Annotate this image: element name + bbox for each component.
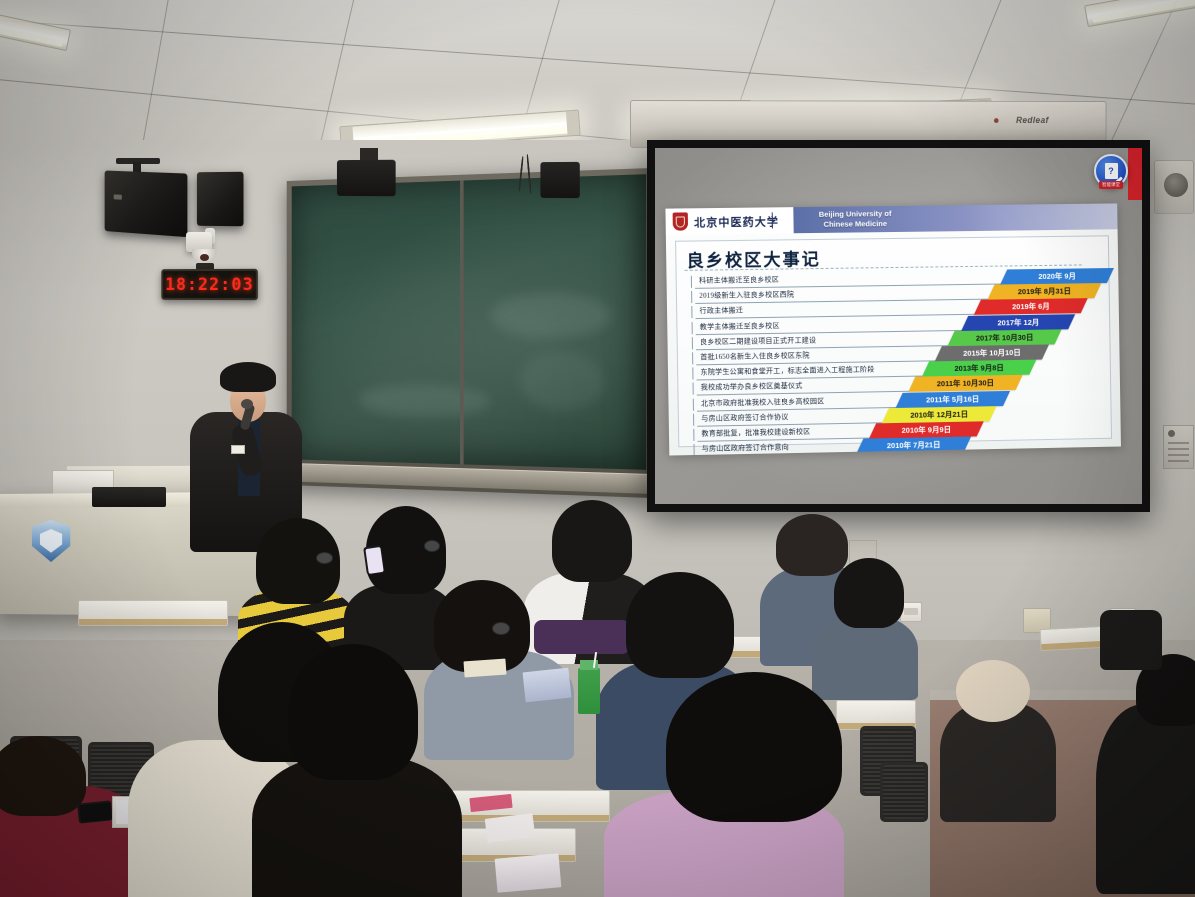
notebook — [463, 659, 506, 678]
green-chalkboard — [287, 168, 652, 498]
timeline-date-text: 2015年 10月10日 — [963, 345, 1021, 361]
student-body — [812, 616, 918, 700]
timeline-date-text: 2011年 10月30日 — [937, 376, 994, 392]
timeline-date-text: 2013年 9月8日 — [954, 360, 1004, 376]
timeline-date-bar: 2020年 9月 — [1000, 268, 1114, 285]
timeline-tick-icon — [692, 352, 693, 364]
timeline-tick-icon — [693, 429, 694, 441]
wall-speaker — [1154, 160, 1194, 214]
digital-wall-clock: 18:22:03 — [161, 269, 258, 300]
timeline-date-bar: 2017年 12月 — [961, 314, 1075, 331]
smartphone[interactable] — [363, 545, 385, 575]
timeline-event-label: 与房山区政府签订合作意向 — [702, 440, 789, 455]
housing-indicator-icon — [994, 118, 999, 123]
speaker-grill-icon — [1164, 173, 1188, 197]
student-hair — [956, 660, 1030, 722]
university-name-cn: 北京中医药大学 — [694, 213, 779, 230]
timeline-tick-icon — [691, 306, 692, 318]
chalkboard-surface — [292, 174, 646, 470]
timeline-date-bar: 2019年 6月 — [974, 299, 1088, 316]
lanyard-id-badge — [231, 445, 245, 454]
timeline-chart: 科研主体搬迁至良乡校区2020年 9月2019级新生入驻良乡校区西院2019年 … — [685, 268, 1105, 442]
notebook — [523, 668, 572, 703]
notebook — [495, 853, 562, 892]
student-hair — [0, 736, 86, 816]
timeline-date-bar: 2011年 10月30日 — [909, 375, 1023, 392]
timeline-date-text: 2020年 9月 — [1038, 269, 1076, 284]
ceiling-speaker — [197, 172, 244, 227]
slide-body: 良乡校区大事记 科研主体搬迁至良乡校区2020年 9月2019级新生入驻良乡校区… — [675, 235, 1112, 447]
timeline-event-label: 行政主体搬迁 — [699, 304, 743, 320]
av-box — [540, 162, 579, 198]
projector — [337, 160, 396, 196]
student-hair — [776, 514, 848, 576]
backpack — [1100, 610, 1162, 670]
timeline-date-text: 2019年 8月31日 — [1017, 284, 1070, 300]
student-body — [1096, 704, 1195, 894]
timeline-tick-icon — [692, 368, 693, 380]
timeline-event-label: 教学主体搬迁至良乡校区 — [700, 318, 780, 334]
student-hair — [626, 572, 734, 678]
milk-carton — [578, 668, 600, 714]
screen-brand-label: Redleaf — [1016, 115, 1049, 125]
eyeglasses — [424, 540, 440, 552]
timeline-tick-icon — [693, 398, 694, 410]
timeline-event-label: 良乡校区二期建设项目正式开工建设 — [700, 333, 816, 350]
screen-red-tab — [1128, 148, 1142, 200]
timeline-date-text: 2017年 12月 — [997, 314, 1039, 330]
timeline-tick-icon — [691, 276, 692, 288]
document-pencil-icon: ? — [1105, 163, 1118, 179]
timeline-event-label: 我校成功举办良乡校区奠基仪式 — [701, 379, 803, 396]
timeline-event-label: 科研主体搬迁至良乡校区 — [699, 273, 779, 289]
chair[interactable] — [880, 762, 928, 822]
projection-surface: ? 智能课堂 北京中医药大学 Beijing University of Chi… — [655, 148, 1142, 504]
timeline-date-bar: 2017年 10月30日 — [948, 329, 1062, 346]
sign-logo-icon — [1168, 430, 1175, 437]
timeline-tick-icon — [693, 414, 694, 426]
watermark-label: 智能课堂 — [1099, 181, 1123, 189]
timeline-tick-icon — [691, 291, 692, 303]
university-name-en: Beijing University of Chinese Medicine — [785, 209, 926, 231]
wall-notice-sign — [1163, 425, 1194, 469]
timeline-tick-icon — [692, 337, 693, 349]
timeline-date-text: 2010年 9月9日 — [902, 422, 952, 438]
eyeglasses — [492, 622, 510, 635]
student-lap-bag — [534, 620, 630, 654]
student-hair — [666, 672, 842, 822]
clock-time-display: 18:22:03 — [165, 274, 254, 294]
student-hair — [834, 558, 904, 628]
timeline-date-text: 2017年 10月30日 — [976, 330, 1034, 346]
slide-header: 北京中医药大学 Beijing University of Chinese Me… — [665, 203, 1117, 234]
timeline-date-text: 2019年 6月 — [1012, 299, 1050, 314]
student-hair — [288, 644, 418, 780]
timeline-tick-icon — [692, 322, 693, 334]
classroom-scene: 18:22:03 Redleaf ? 智能课堂 北京中医药大学 — [0, 0, 1195, 897]
projection-screen: ? 智能课堂 北京中医药大学 Beijing University of Chi… — [647, 140, 1150, 512]
timeline-event-label: 首批1650名新生入住良乡校区东院 — [700, 348, 810, 365]
timeline-date-text: 2011年 5月16日 — [926, 391, 979, 407]
university-shield-emblem — [32, 520, 70, 562]
timeline-event-label: 2019级新生入驻良乡校区西院 — [699, 288, 794, 304]
eyeglasses — [316, 552, 333, 564]
university-name-en-line2: Chinese Medicine — [785, 219, 925, 231]
timeline-tick-icon — [693, 383, 694, 395]
podium-control-panel[interactable] — [92, 487, 166, 507]
timeline-tick-icon — [693, 444, 694, 455]
camera-lens-icon — [200, 254, 209, 261]
watermark-question-mark: ? — [1108, 166, 1114, 176]
student-hair — [552, 500, 632, 582]
timeline-event-label: 与房山区政府签订合作协议 — [701, 410, 788, 427]
student-desk — [78, 600, 228, 626]
smart-classroom-watermark-badge: ? 智能课堂 — [1094, 154, 1128, 188]
student-hair — [434, 580, 530, 672]
presenter-hair — [220, 362, 276, 392]
university-shield-icon — [673, 212, 689, 230]
ceiling-speaker — [105, 171, 188, 238]
smartphone[interactable] — [77, 800, 113, 823]
presentation-slide: 北京中医药大学 Beijing University of Chinese Me… — [665, 203, 1121, 455]
timeline-date-text: 2010年 12月21日 — [911, 406, 969, 422]
